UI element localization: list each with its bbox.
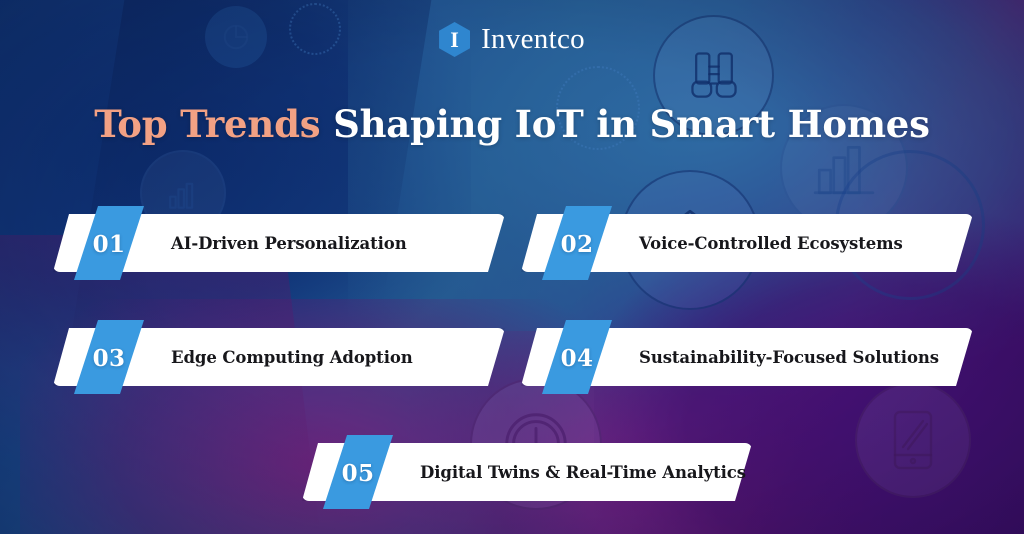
infographic-canvas: I Inventco Top Trends Shaping IoT in Sma… xyxy=(0,0,1024,534)
trend-card-01[interactable]: 01 AI-Driven Personalization xyxy=(53,214,505,272)
trend-number: 05 xyxy=(342,460,375,487)
trend-number: 04 xyxy=(561,345,594,372)
trend-card-list: 01 AI-Driven Personalization 02 Voice-Co… xyxy=(0,0,1024,534)
trend-card-04[interactable]: 04 Sustainability-Focused Solutions xyxy=(521,328,973,386)
trend-label: Digital Twins & Real-Time Analytics xyxy=(420,443,746,501)
brand-logo[interactable]: I Inventco xyxy=(0,22,1024,57)
trend-card-05[interactable]: 05 Digital Twins & Real-Time Analytics xyxy=(302,443,752,501)
trend-label: Edge Computing Adoption xyxy=(171,328,413,386)
page-title: Top Trends Shaping IoT in Smart Homes xyxy=(0,104,1024,145)
trend-label: AI-Driven Personalization xyxy=(171,214,407,272)
trend-number: 03 xyxy=(93,345,126,372)
trend-card-03[interactable]: 03 Edge Computing Adoption xyxy=(53,328,505,386)
trend-number: 01 xyxy=(93,231,126,258)
hexagon-logo-icon: I xyxy=(439,22,470,57)
trend-card-02[interactable]: 02 Voice-Controlled Ecosystems xyxy=(521,214,973,272)
logo-letter: I xyxy=(450,29,459,51)
page-title-rest: Shaping IoT in Smart Homes xyxy=(320,102,929,146)
brand-name: Inventco xyxy=(481,23,585,56)
page-title-accent: Top Trends xyxy=(94,102,320,146)
trend-label: Voice-Controlled Ecosystems xyxy=(639,214,903,272)
trend-label: Sustainability-Focused Solutions xyxy=(639,328,939,386)
trend-number: 02 xyxy=(561,231,594,258)
